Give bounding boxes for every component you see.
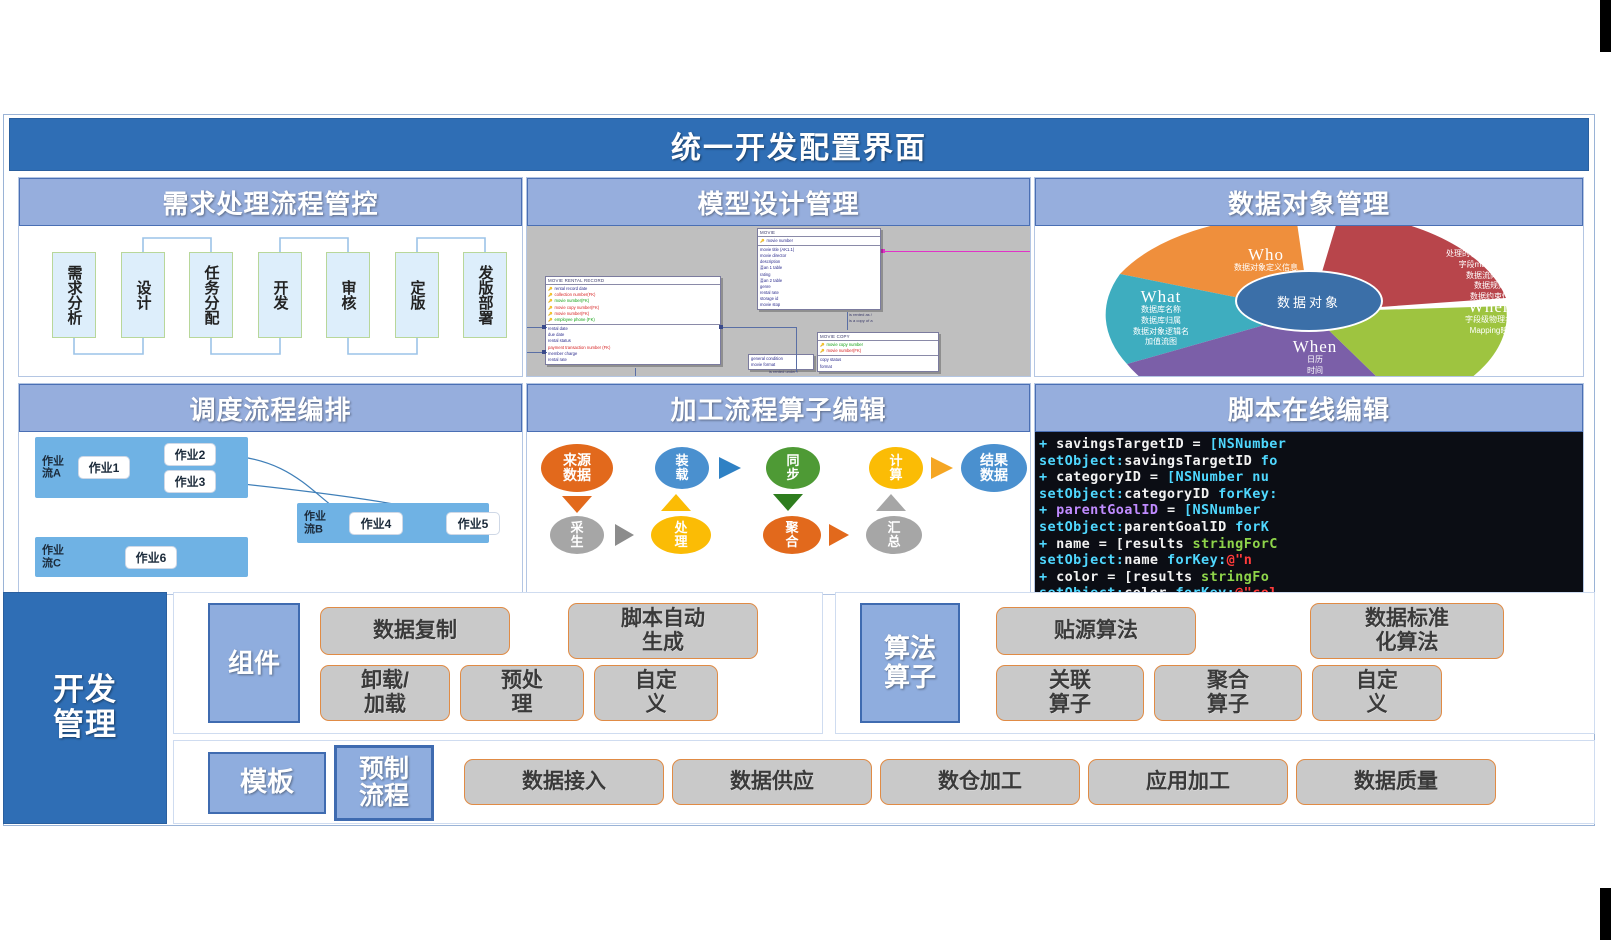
panel-header-operator: 加工流程算子编辑 <box>527 384 1030 432</box>
panel-data-object[interactable]: 数据对象管理 <box>1034 177 1584 377</box>
preset-data-ingest[interactable]: 数据接入 <box>464 759 664 805</box>
job-node-4[interactable]: 作业4 <box>349 512 403 535</box>
op-node-sync[interactable]: 同步 <box>766 447 820 489</box>
panel-header-script: 脚本在线编辑 <box>1035 384 1583 432</box>
preset-data-supply-label: 数据供应 <box>730 770 814 794</box>
op-arrow-right-compute <box>931 457 953 479</box>
job-flow-diagram: 作业流A 作业1 作业2 作业3 作业流B 作业4 作业5 作业流C <box>19 432 522 594</box>
panel-column-3: 数据对象管理 <box>1034 177 1584 595</box>
panel-title-requirement: 需求处理流程管控 <box>162 184 378 221</box>
category-components[interactable]: 组件 <box>208 603 300 723</box>
main-title-bar: 统一开发配置界面 <box>9 118 1589 171</box>
pie-center-label: 数据对象 <box>1235 270 1383 332</box>
flow-step-2[interactable]: 任务分配 <box>189 252 233 338</box>
dev-row-algorithms: 算法算子 贴源算法 数据标准化算法 关联算子 聚合算子 自定义 <box>835 592 1595 734</box>
requirement-flow-diagram: 需求分析 设计 任务分配 开发 审核 定版 发版部署 <box>19 226 522 376</box>
job-node-6[interactable]: 作业6 <box>125 546 177 569</box>
pie-label-what: What 数据库名称数据库归属数据对象逻辑名加值流图 <box>1081 288 1241 348</box>
er-line-mid-v <box>796 327 797 372</box>
op-node-process[interactable]: 处理 <box>651 516 711 554</box>
dev-row-templates: 模板 预制流程 数据接入 数据供应 数仓加工 应用加工 数据质量 <box>173 740 1595 824</box>
component-unload-load[interactable]: 卸载/加载 <box>320 665 450 721</box>
er-table-condition-fields: general condition movie format <box>749 355 813 369</box>
pie-sublabel-how: 处理的物理层参数及规则字段mapping信息数据流向规则数据规则数据约束性 <box>1405 249 1575 303</box>
op-arrow-right-load <box>719 457 741 479</box>
flow-step-5[interactable]: 定版 <box>395 252 439 338</box>
panel-title-script: 脚本在线编辑 <box>1228 390 1390 427</box>
component-data-replication[interactable]: 数据复制 <box>320 607 510 655</box>
panel-body-requirement: 需求分析 设计 任务分配 开发 审核 定版 发版部署 <box>19 226 522 376</box>
data-object-pie-chart: Who 数据对象定义信息 What 数据库名称数据库归属数据对象逻辑名加值流图 … <box>1035 226 1583 376</box>
op-arrow-up-process <box>661 494 691 511</box>
pie-sublabel-what: 数据库名称数据库归属数据对象逻辑名加值流图 <box>1081 305 1241 348</box>
category-preset-flow-label: 预制流程 <box>359 756 409 811</box>
op-node-aggregate[interactable]: 聚合 <box>763 516 821 554</box>
code-line-3: setObject:categoryID forKey: <box>1039 486 1583 503</box>
op-node-load[interactable]: 装载 <box>655 447 709 489</box>
component-custom[interactable]: 自定义 <box>594 665 718 721</box>
code-line-0: + savingsTargetID = [NSNumber <box>1039 436 1583 453</box>
panel-requirement-process[interactable]: 需求处理流程管控 <box>18 177 523 377</box>
preset-application-processing[interactable]: 应用加工 <box>1088 759 1288 805</box>
er-table-movie-copy[interactable]: MOVIE COPY movie copy number movie numbe… <box>817 332 939 372</box>
pie-sublabel-where: 字段级物理名称Mapping映射 <box>1413 315 1573 337</box>
er-table-movie[interactable]: MOVIE movie number movie title (AK1.1) m… <box>757 228 881 310</box>
op-arrow-up-summary <box>876 494 906 511</box>
op-label-summary: 汇总 <box>887 521 900 548</box>
dev-management-title: 开发管理 <box>53 673 117 742</box>
er-dot-left-1 <box>542 325 546 329</box>
algorithm-join-operator-label: 关联算子 <box>1049 669 1091 716</box>
dev-row-components: 组件 数据复制 脚本自动生成 卸载/加载 预处理 自定义 <box>173 592 823 734</box>
preset-data-supply[interactable]: 数据供应 <box>672 759 872 805</box>
job-node-3[interactable]: 作业3 <box>164 470 216 493</box>
preset-application-processing-label: 应用加工 <box>1146 770 1230 794</box>
op-node-collect[interactable]: 采生 <box>550 516 604 554</box>
panel-operator-editing[interactable]: 加工流程算子编辑 来源数据 采生 装载 处理 同步 <box>526 383 1031 595</box>
pie-label-how: How 处理的物理层参数及规则字段mapping信息数据流向规则数据规则数据约束… <box>1405 232 1575 303</box>
development-management-section: 开发管理 组件 数据复制 脚本自动生成 卸载/加载 预处理 自定义 算法算子 贴… <box>3 592 1595 824</box>
algorithm-custom[interactable]: 自定义 <box>1312 665 1442 721</box>
panel-header-schedule: 调度流程编排 <box>19 384 522 432</box>
er-table-copy-keys: movie copy number movie number(FK) <box>818 340 938 355</box>
er-table-rental-caption: MOVIE RENTAL RECORD <box>546 277 720 284</box>
er-line-bot-v <box>635 368 636 376</box>
preset-warehouse-processing[interactable]: 数仓加工 <box>880 759 1080 805</box>
pie-label-where: Where 字段级物理名称Mapping映射 <box>1413 298 1573 337</box>
op-label-result-data: 结果数据 <box>980 453 1008 482</box>
er-dot-left-2 <box>542 350 546 354</box>
op-node-compute[interactable]: 计算 <box>869 447 923 489</box>
er-table-rental-record[interactable]: MOVIE RENTAL RECORD rental record date c… <box>545 276 721 365</box>
right-gutter-bottom <box>1600 888 1611 940</box>
op-arrow-right-aggregate <box>829 524 849 546</box>
er-relation-magenta <box>885 251 1030 252</box>
operator-flow-diagram: 来源数据 采生 装载 处理 同步 聚合 计算 <box>527 432 1030 594</box>
op-label-load: 装载 <box>675 454 688 481</box>
category-templates-label: 模板 <box>240 768 294 798</box>
op-label-collect: 采生 <box>570 521 583 548</box>
component-preprocess[interactable]: 预处理 <box>460 665 584 721</box>
panel-script-editor[interactable]: 脚本在线编辑 + savingsTargetID = [NSNumber set… <box>1034 383 1584 595</box>
er-table-copy-fields: copy status format <box>818 355 938 370</box>
op-label-sync: 同步 <box>786 454 799 481</box>
er-table-condition[interactable]: general condition movie format <box>748 354 814 370</box>
er-line-mid-h <box>723 327 797 328</box>
er-table-copy-caption: MOVIE COPY <box>818 333 938 340</box>
category-preset-flow[interactable]: 预制流程 <box>334 745 434 821</box>
op-node-result-data[interactable]: 结果数据 <box>961 444 1027 492</box>
component-unload-load-label: 卸载/加载 <box>361 669 409 716</box>
code-editor-surface[interactable]: + savingsTargetID = [NSNumber setObject:… <box>1035 432 1583 594</box>
code-line-2: + categoryID = [NSNumber nu <box>1039 469 1583 486</box>
job-node-5[interactable]: 作业5 <box>446 512 500 535</box>
algorithm-aggregate-operator-label: 聚合算子 <box>1207 669 1249 716</box>
flow-step-1[interactable]: 设计 <box>121 252 165 338</box>
right-gutter-top <box>1600 0 1611 52</box>
er-note-rented-as: is rented as /is a copy of a <box>849 312 873 323</box>
category-algorithms-label: 算法算子 <box>884 634 936 691</box>
op-label-compute: 计算 <box>889 454 902 481</box>
algorithm-aggregate-operator[interactable]: 聚合算子 <box>1154 665 1302 721</box>
op-arrow-down-sync <box>773 494 803 511</box>
component-script-autogen-label: 脚本自动生成 <box>621 607 705 654</box>
op-label-source-data: 来源数据 <box>563 453 591 482</box>
algorithm-source-aligned[interactable]: 贴源算法 <box>996 607 1196 655</box>
panel-header-requirement: 需求处理流程管控 <box>19 178 522 226</box>
panel-header-model: 模型设计管理 <box>527 178 1030 226</box>
panel-model-design[interactable]: 模型设计管理 MOVIE movie number <box>526 177 1031 377</box>
op-arrow-right-collect <box>615 524 634 546</box>
flow-step-6[interactable]: 发版部署 <box>463 252 507 338</box>
component-script-autogen[interactable]: 脚本自动生成 <box>568 603 758 659</box>
category-templates[interactable]: 模板 <box>208 752 326 814</box>
algorithm-source-aligned-label: 贴源算法 <box>1054 619 1138 643</box>
pie-label-when: When 日历时间控制条件 <box>1235 338 1395 376</box>
er-table-movie-caption: MOVIE <box>758 229 880 236</box>
panel-header-dataobject: 数据对象管理 <box>1035 178 1583 226</box>
panel-title-dataobject: 数据对象管理 <box>1228 184 1390 221</box>
er-dot-magenta <box>881 249 885 253</box>
algorithm-custom-label: 自定义 <box>1356 669 1398 716</box>
panel-body-script: + savingsTargetID = [NSNumber setObject:… <box>1035 432 1583 594</box>
algorithm-data-standardization[interactable]: 数据标准化算法 <box>1310 603 1504 659</box>
algorithm-data-standardization-label: 数据标准化算法 <box>1365 607 1449 654</box>
flow-step-4[interactable]: 审核 <box>326 252 370 338</box>
panel-column-2: 模型设计管理 MOVIE movie number <box>526 177 1031 595</box>
preset-warehouse-processing-label: 数仓加工 <box>938 770 1022 794</box>
panel-body-schedule: 作业流A 作业1 作业2 作业3 作业流B 作业4 作业5 作业流C <box>19 432 522 594</box>
er-note-rented-under: is rented under /records rental of <box>769 369 798 376</box>
category-components-label: 组件 <box>228 649 280 678</box>
er-table-rental-fields: rental date due date rental status payme… <box>546 324 720 364</box>
flow-step-3[interactable]: 开发 <box>258 252 302 338</box>
component-preprocess-label: 预处理 <box>501 669 543 716</box>
op-node-summary[interactable]: 汇总 <box>866 516 922 554</box>
dev-management-sidebar[interactable]: 开发管理 <box>3 592 167 824</box>
panel-grid: 需求处理流程管控 <box>18 177 1584 595</box>
panel-title-operator: 加工流程算子编辑 <box>670 390 886 427</box>
preset-data-ingest-label: 数据接入 <box>522 770 606 794</box>
op-arrow-down-source <box>562 496 592 513</box>
category-algorithms[interactable]: 算法算子 <box>860 603 960 723</box>
er-table-movie-keys: movie number <box>758 236 880 245</box>
flow-step-0[interactable]: 需求分析 <box>52 252 96 338</box>
job-group-c-label: 作业流C <box>42 544 64 569</box>
preset-data-quality[interactable]: 数据质量 <box>1296 759 1496 805</box>
panel-body-dataobject: Who 数据对象定义信息 What 数据库名称数据库归属数据对象逻辑名加值流图 … <box>1035 226 1583 376</box>
er-diagram: MOVIE movie number movie title (AK1.1) m… <box>527 226 1030 376</box>
panel-body-operator: 来源数据 采生 装载 处理 同步 聚合 计算 <box>527 432 1030 594</box>
panel-title-schedule: 调度流程编排 <box>189 390 351 427</box>
dev-management-content: 组件 数据复制 脚本自动生成 卸载/加载 预处理 自定义 算法算子 贴源算法 数… <box>173 592 1595 824</box>
code-line-1: setObject:savingsTargetID fo <box>1039 453 1583 470</box>
algorithm-join-operator[interactable]: 关联算子 <box>996 665 1144 721</box>
pie-label-who: Who 数据对象定义信息 <box>1181 246 1351 274</box>
job-node-2[interactable]: 作业2 <box>164 443 216 466</box>
panel-column-1: 需求处理流程管控 <box>18 177 523 595</box>
code-line-7: setObject:name forKey:@"n <box>1039 552 1583 569</box>
code-line-6: + name = [results stringForC <box>1039 536 1583 553</box>
job-group-a-label: 作业流A <box>42 455 64 480</box>
op-label-process: 处理 <box>674 521 687 548</box>
panel-schedule-orchestration[interactable]: 调度流程编排 <box>18 383 523 595</box>
component-custom-label: 自定义 <box>635 669 677 716</box>
page-title: 统一开发配置界面 <box>671 123 927 167</box>
pie-sublabel-when: 日历时间控制条件 <box>1235 355 1395 376</box>
job-group-a[interactable]: 作业流A <box>35 437 248 498</box>
code-line-5: setObject:parentGoalID forK <box>1039 519 1583 536</box>
er-line-copy-v <box>847 312 848 330</box>
code-line-8: + color = [results stringFo <box>1039 569 1583 586</box>
panel-body-model: MOVIE movie number movie title (AK1.1) m… <box>527 226 1030 376</box>
component-data-replication-label: 数据复制 <box>373 619 457 643</box>
op-node-source-data[interactable]: 来源数据 <box>541 444 613 492</box>
job-group-b-label: 作业流B <box>304 510 326 535</box>
preset-data-quality-label: 数据质量 <box>1354 770 1438 794</box>
job-node-1[interactable]: 作业1 <box>78 456 130 479</box>
op-label-aggregate: 聚合 <box>785 521 798 548</box>
panel-title-model: 模型设计管理 <box>697 184 859 221</box>
code-line-4: + parentGoalID = [NSNumber <box>1039 502 1583 519</box>
er-table-movie-fields: movie title (AK1.1) movie director descr… <box>758 245 880 309</box>
er-table-rental-keys: rental record date collection number(FK)… <box>546 284 720 324</box>
slide-canvas: 统一开发配置界面 需求处理流程管控 <box>0 0 1611 940</box>
